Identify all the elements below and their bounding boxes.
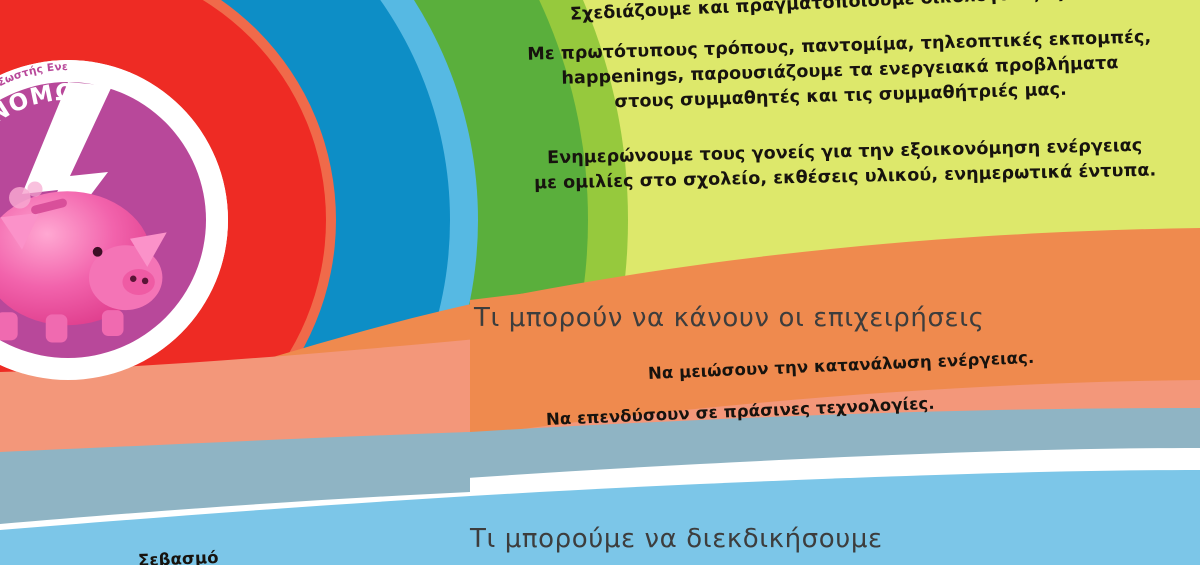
- orange-panel-heading: Τι μπορούν να κάνουν οι επιχειρήσεις: [474, 303, 984, 333]
- blue-panel-heading: Τι μπορούμε να διεκδικήσουμε: [470, 524, 883, 554]
- poster-canvas: ΕΞΟΙΚΟΝΟΜΩ ΕΝΕΡΓΕΙΑ Εκπαιδευτικό Πρόγραμ…: [0, 0, 1200, 565]
- blue-panel-item-1: Σεβασμό: [138, 548, 219, 565]
